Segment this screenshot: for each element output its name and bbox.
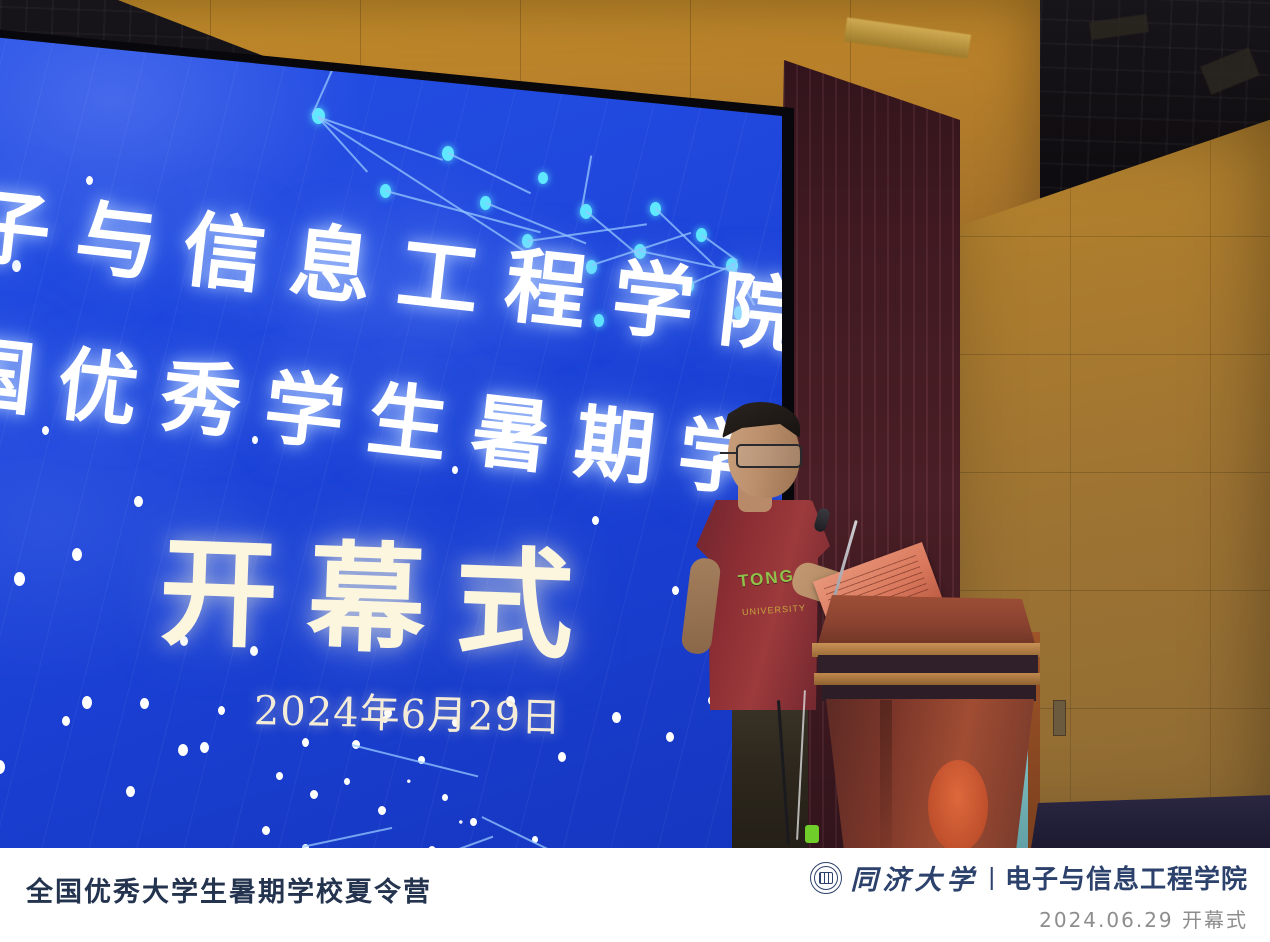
- green-cable-clip: [805, 825, 819, 843]
- podium-band-gold: [814, 673, 1040, 685]
- event-caption: 全国优秀大学生暑期学校夏令营: [26, 870, 432, 909]
- draped-table: [1030, 795, 1270, 855]
- podium-top: [818, 595, 1036, 647]
- screen-date: 2024年6月29日: [253, 678, 562, 744]
- college-name: 电子与信息工程学院: [1005, 859, 1248, 896]
- podium-front-edge: [880, 700, 892, 850]
- photo-screenshot: 电子与信息工程学院 全国优秀学生暑期学校 开幕式 2024年6月29日 TONG…: [0, 0, 1270, 942]
- network-node: [538, 172, 548, 184]
- branding-block: 同济大学 | 电子与信息工程学院 2024.06.29 开幕式: [810, 858, 1248, 933]
- podium-emblem: [928, 760, 988, 852]
- wall-switch-icon: [1053, 700, 1066, 736]
- brand-divider: |: [986, 863, 997, 892]
- screen-headline: 开幕式: [157, 496, 607, 682]
- footer-bar: 全国优秀大学生暑期学校夏令营 同济大学 | 电子与信息工程学院 2024.06.…: [0, 848, 1270, 942]
- led-screen: 电子与信息工程学院 全国优秀学生暑期学校 开幕式 2024年6月29日: [0, 0, 788, 848]
- podium-band-lower: [822, 685, 1036, 701]
- podium-band-upper: [818, 655, 1038, 673]
- eyeglasses-icon: [736, 444, 802, 468]
- tongji-seal-icon: [810, 862, 842, 894]
- university-name: 同济大学: [850, 858, 978, 897]
- event-date-line: 2024.06.29 开幕式: [810, 904, 1248, 933]
- podium-body: [826, 699, 1034, 851]
